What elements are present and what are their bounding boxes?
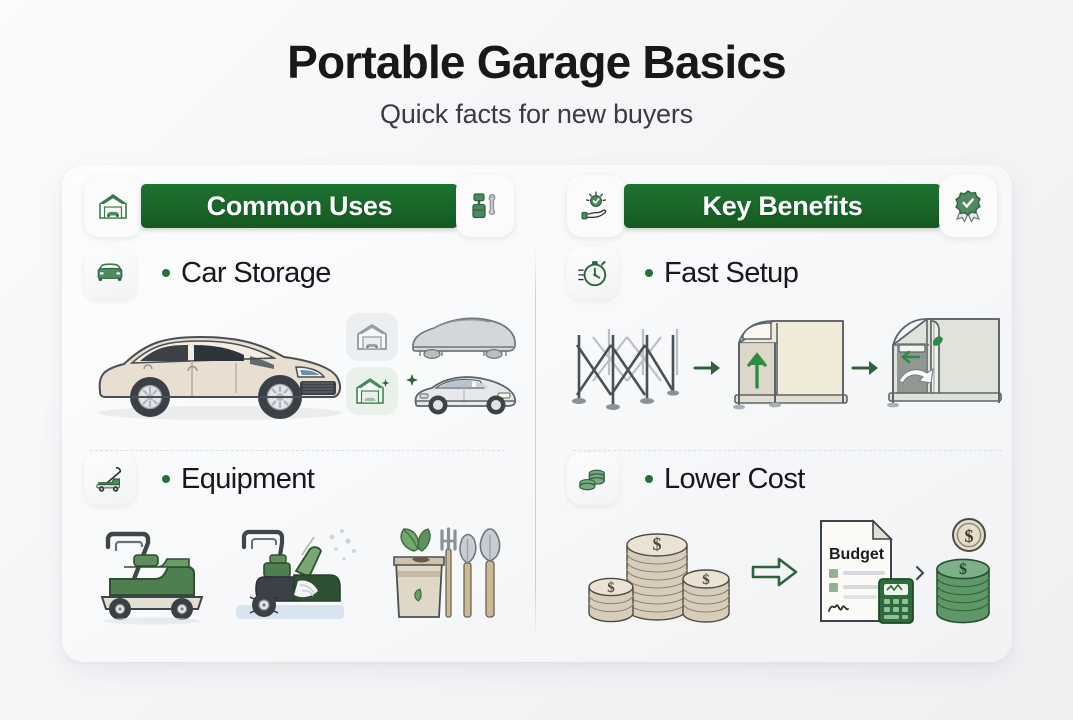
banner-bar-common-uses: Common Uses <box>141 184 458 228</box>
car-cover-illustration <box>408 313 520 361</box>
lawn-mower-icon <box>84 453 136 505</box>
stopwatch-icon <box>567 247 619 299</box>
chevron-right-icon <box>917 567 923 579</box>
svg-text:$: $ <box>607 580 615 596</box>
svg-text:$: $ <box>965 526 974 546</box>
green-coin-stack: $ <box>937 559 989 622</box>
section-label: Car Storage <box>181 257 331 290</box>
banner-common-uses: Common Uses <box>84 175 514 237</box>
gold-coin: $ <box>953 519 985 551</box>
bullet-dot <box>645 475 653 483</box>
clean-silver-car-sparkle <box>402 363 522 419</box>
hand-holding-check-icon <box>567 175 625 237</box>
equipment-illustration <box>84 515 522 633</box>
garage-tile-icon <box>346 313 398 361</box>
section-equipment: Equipment <box>84 453 522 633</box>
section-header: Car Storage <box>84 247 522 299</box>
bullet-dot <box>645 269 653 277</box>
car-storage-illustration <box>84 309 522 427</box>
section-divider <box>90 450 505 451</box>
calculator-icon <box>879 579 913 623</box>
completed-portable-garage <box>875 309 1017 421</box>
car-front-icon <box>84 247 136 299</box>
column-common-uses: Common Uses <box>74 165 529 662</box>
banner-title: Common Uses <box>207 191 393 222</box>
budget-result-group: Budget <box>813 515 1005 631</box>
page-title: Portable Garage Basics <box>0 38 1073 86</box>
banner-key-benefits: Key Benefits <box>567 175 997 237</box>
banner-title: Key Benefits <box>703 191 863 222</box>
section-label: Lower Cost <box>664 463 805 496</box>
column-divider <box>535 247 536 639</box>
section-fast-setup: Fast Setup <box>567 247 1005 427</box>
coin-stack-icon <box>567 453 619 505</box>
arrow-right-icon <box>751 555 799 589</box>
lawn-mower <box>94 521 222 627</box>
fast-setup-illustration <box>567 309 1005 427</box>
banner-bar-key-benefits: Key Benefits <box>624 184 941 228</box>
section-label: Fast Setup <box>664 257 798 290</box>
section-header: Lower Cost <box>567 453 1005 505</box>
accordion-frame <box>569 321 691 417</box>
page-subtitle: Quick facts for new buyers <box>0 99 1073 130</box>
section-car-storage: Car Storage <box>84 247 522 427</box>
section-header: Fast Setup <box>567 247 1005 299</box>
green-garage-sparkle-tile-icon <box>346 367 398 415</box>
svg-text:$: $ <box>702 572 710 588</box>
garden-tools-soil-bag-fork-trowel-shovel <box>384 515 510 627</box>
beige-coin-stacks: $ $ <box>587 517 733 629</box>
document-label: Budget <box>829 546 885 563</box>
partial-canopy-shelter <box>717 309 859 421</box>
award-ribbon-check-icon <box>939 175 997 237</box>
section-divider <box>573 450 1002 451</box>
bullet-dot <box>162 269 170 277</box>
column-key-benefits: Key Benefits <box>557 165 1012 662</box>
section-header: Equipment <box>84 453 522 505</box>
header: Portable Garage Basics Quick facts for n… <box>0 0 1073 130</box>
content-card: Common Uses <box>62 165 1012 662</box>
section-label: Equipment <box>181 463 314 496</box>
garage-icon <box>84 175 142 237</box>
bullet-dot <box>162 475 170 483</box>
toolbox-wrench-icon <box>456 175 514 237</box>
section-lower-cost: Lower Cost <box>567 453 1005 633</box>
snow-blower <box>236 519 368 629</box>
beige-hatchback-car <box>84 313 352 425</box>
svg-text:$: $ <box>653 534 662 554</box>
lower-cost-illustration: $ $ <box>567 515 1005 633</box>
svg-text:$: $ <box>959 561 967 578</box>
